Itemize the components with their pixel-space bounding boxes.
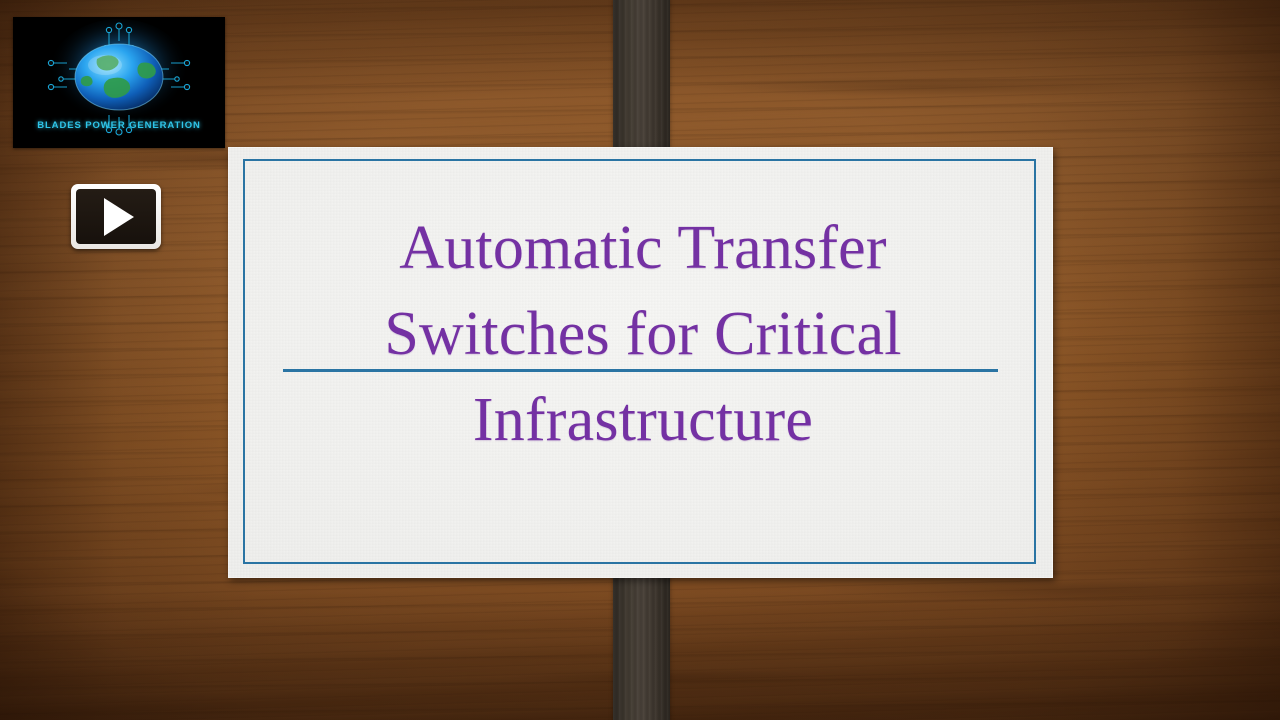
slide-viewer: Automatic Transfer Switches for Critical… — [0, 0, 1280, 720]
title-line-3: Infrastructure — [248, 377, 1038, 463]
play-button-surface[interactable] — [76, 189, 156, 244]
brand-logo: BLADES POWER GENERATION — [13, 17, 225, 148]
play-triangle-icon[interactable] — [104, 198, 134, 236]
title-line-2: Switches for Critical — [248, 291, 1038, 377]
title-line-1: Automatic Transfer — [248, 205, 1038, 291]
logo-caption: BLADES POWER GENERATION — [13, 120, 225, 131]
slide-title: Automatic Transfer Switches for Critical… — [248, 205, 1038, 463]
play-button[interactable] — [71, 184, 161, 249]
